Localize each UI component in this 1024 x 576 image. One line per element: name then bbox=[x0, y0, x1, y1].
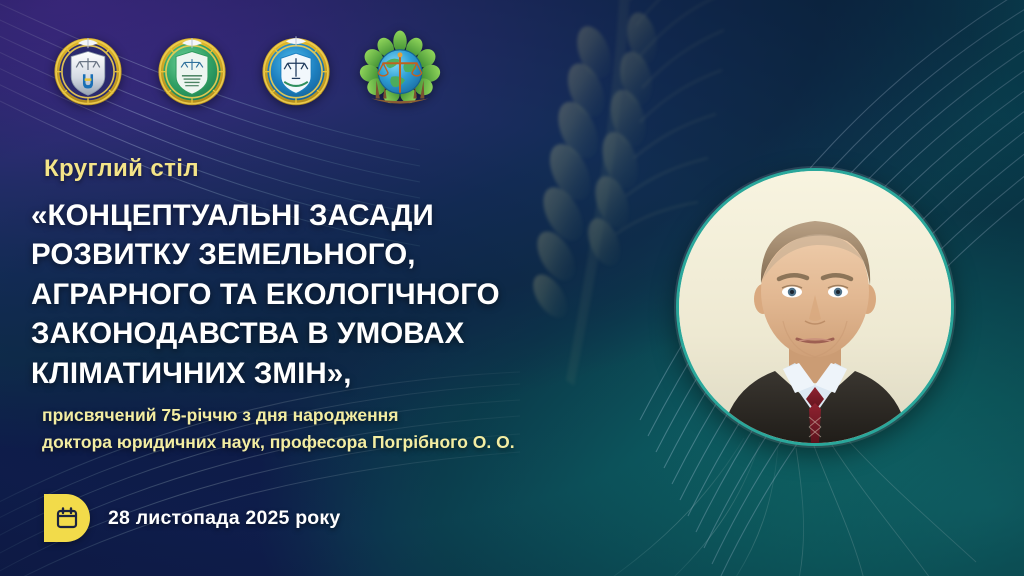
emblem-ecology-globe-scales bbox=[358, 28, 442, 112]
avatar bbox=[676, 168, 954, 446]
title-line: АГРАРНОГО ТА ЕКОЛОГІЧНОГО bbox=[31, 275, 591, 314]
calendar-badge bbox=[44, 494, 90, 542]
portrait-photo bbox=[679, 171, 951, 443]
emblem-blue-justice-academy bbox=[254, 28, 338, 112]
title-line: КЛІМАТИЧНИХ ЗМІН», bbox=[31, 354, 591, 393]
event-date-block: 28 листопада 2025 року bbox=[44, 494, 340, 542]
calendar-icon bbox=[55, 506, 79, 530]
event-announcement-poster: Круглий стіл «КОНЦЕПТУАЛЬНІ ЗАСАДИ РОЗВИ… bbox=[0, 0, 1024, 576]
title-line: «КОНЦЕПТУАЛЬНІ ЗАСАДИ bbox=[31, 196, 591, 235]
page-title: «КОНЦЕПТУАЛЬНІ ЗАСАДИ РОЗВИТКУ ЗЕМЕЛЬНОГ… bbox=[31, 196, 591, 393]
emblem-green-law-institute bbox=[150, 28, 234, 112]
title-line: РОЗВИТКУ ЗЕМЕЛЬНОГО, bbox=[31, 235, 591, 274]
title-line: ЗАКОНОДАВСТВА В УМОВАХ bbox=[31, 314, 591, 353]
subtitle-line: доктора юридичних наук, професора Погріб… bbox=[42, 429, 662, 456]
event-date-text: 28 листопада 2025 року bbox=[108, 507, 340, 530]
subtitle-line: присвячений 75-річчю з дня народження bbox=[42, 402, 662, 429]
emblem-prosecutor-academy bbox=[46, 28, 130, 112]
event-type-kicker: Круглий стіл bbox=[44, 155, 199, 183]
dedication-subtitle: присвячений 75-річчю з дня народження до… bbox=[42, 402, 662, 455]
institution-emblem-row bbox=[46, 28, 442, 112]
